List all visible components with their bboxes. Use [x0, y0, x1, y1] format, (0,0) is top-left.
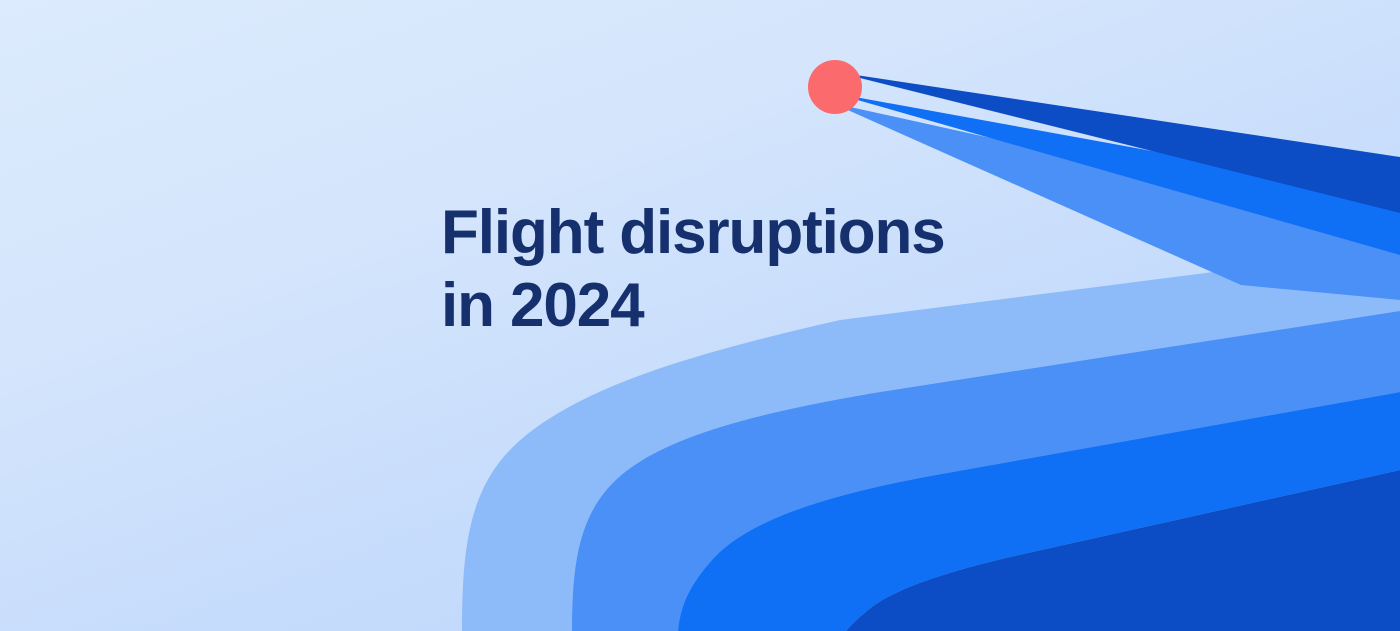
page-title: Flight disruptions in 2024: [441, 196, 945, 342]
hero-banner: Flight disruptions in 2024: [0, 0, 1400, 631]
plane-dot-icon: [808, 60, 862, 114]
